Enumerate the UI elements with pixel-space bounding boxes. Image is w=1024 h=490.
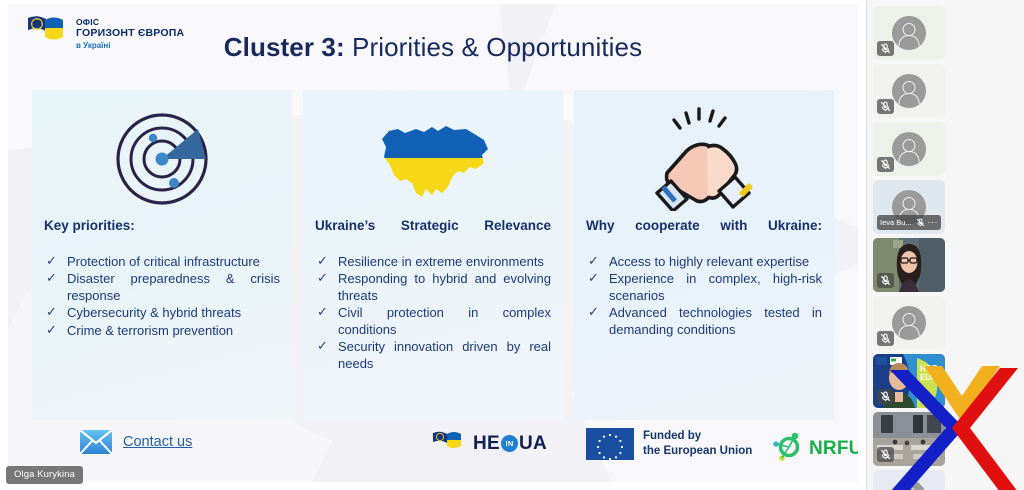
check-icon: ✓ [588,304,599,321]
list-item-text: Experience in complex, high-risk scenari… [609,271,822,303]
mic-off-icon [916,218,925,227]
participant-tile[interactable]: HOR EUR [873,354,945,408]
list-item: ✓Access to highly relevant expertise [586,254,822,271]
check-icon: ✓ [317,338,328,355]
list-item-text: Resilience in extreme environments [338,254,544,269]
avatar [892,480,926,490]
avatar [892,16,926,50]
mic-off-icon [877,99,894,114]
mic-off-icon [877,447,894,462]
participant-tile[interactable] [873,64,945,118]
avatar [892,306,926,340]
slide-footer: Contact us HEINUA [8,422,858,468]
list-item-text: Security innovation driven by real needs [338,339,551,371]
eu-flag-icon [586,428,634,460]
active-speaker-nameplate: Olga Kurykina [6,466,83,484]
participant-tile[interactable] [873,122,945,176]
mic-off-icon [877,41,894,56]
shared-screen-stage: ОФІС ГОРИЗОНТ ЄВРОПА в Україні Cluster 3… [0,0,866,490]
slide-title-rest: Priorities & Opportunities [345,32,643,62]
contact-us-block[interactable]: Contact us [80,430,192,454]
participant-filmstrip[interactable]: Ieva Bu... ··· [866,0,1024,490]
list-item-text: Civil protection in complex conditions [338,305,551,337]
participant-tile[interactable] [873,470,945,490]
svg-text:HOR: HOR [920,364,938,373]
list-item-text: Cybersecurity & hybrid threats [67,305,241,320]
heoua-in-badge: IN [501,435,518,452]
participant-tile[interactable] [873,238,945,292]
list-item-text: Advanced technologies tested in demandin… [609,305,822,337]
list-item: ✓Disaster preparedness & crisis response [44,271,280,304]
list-item: ✓Protection of critical infrastructure [44,254,280,271]
brand-line-1: ОФІС [76,17,184,27]
content-columns: Key priorities: ✓Protection of critical … [32,90,834,420]
heoua-flag-icon [432,430,466,457]
participant-menu-icon[interactable]: ··· [928,218,939,227]
column-1-list: ✓Protection of critical infrastructure ✓… [44,254,280,341]
envelope-icon [80,430,112,454]
meeting-screen: ОФІС ГОРИЗОНТ ЄВРОПА в Україні Cluster 3… [0,0,1024,490]
list-item-text: Responding to hybrid and evolving threat… [338,271,551,303]
list-item-text: Protection of critical infrastructure [67,254,260,269]
list-item: ✓Experience in complex, high-risk scenar… [586,271,822,304]
nrfu-mark-icon [770,431,804,466]
list-item: ✓Advanced technologies tested in demandi… [586,305,822,338]
column-2-list: ✓Resilience in extreme environments ✓Res… [315,254,551,374]
check-icon: ✓ [588,270,599,287]
list-item: ✓Security innovation driven by real need… [315,339,551,372]
contact-us-link[interactable]: Contact us [123,434,192,450]
mic-off-icon [877,389,894,404]
list-item: ✓Civil protection in complex conditions [315,305,551,338]
heoua-post: UA [519,433,547,455]
check-icon: ✓ [46,270,57,287]
svg-text:EUR: EUR [920,373,937,382]
participant-tile[interactable] [873,6,945,60]
list-item: ✓Crime & terrorism prevention [44,323,280,340]
column-3-list: ✓Access to highly relevant expertise ✓Ex… [586,254,822,340]
heoua-wordmark: HEINUA [473,433,547,455]
slide-title: Cluster 3: Priorities & Opportunities [8,32,858,63]
list-item-text: Access to highly relevant expertise [609,254,809,269]
avatar [892,74,926,108]
check-icon: ✓ [317,270,328,287]
list-item-text: Disaster preparedness & crisis response [67,271,280,303]
list-item: ✓Cybersecurity & hybrid threats [44,305,280,322]
list-item: ✓Responding to hybrid and evolving threa… [315,271,551,304]
funded-by-eu-logo: Funded by the European Union [586,428,752,460]
participant-namebar: Ieva Bu... ··· [877,215,941,230]
participant-tile[interactable] [873,296,945,350]
slide-title-bold: Cluster 3: [224,32,345,62]
eu-line-1: Funded by [643,429,752,444]
column-key-priorities: Key priorities: ✓Protection of critical … [32,90,292,420]
heo-in-ua-logo: HEINUA [432,430,547,457]
avatar [892,132,926,166]
participant-tiles: Ieva Bu... ··· [873,6,1019,490]
list-item: ✓Resilience in extreme environments [315,254,551,271]
eu-line-2: the European Union [643,444,752,459]
column-3-heading: Why cooperate with Ukraine: [586,218,822,252]
participant-name: Ieva Bu... [880,218,913,227]
column-2-heading: Ukraine’s Strategic Relevance [315,218,551,252]
participant-tile[interactable] [873,412,945,466]
handshake-icon [586,100,822,218]
mic-off-icon [877,273,894,288]
check-icon: ✓ [317,304,328,321]
check-icon: ✓ [46,322,57,339]
nrfu-wordmark: NRFU [809,438,858,460]
check-icon: ✓ [588,253,599,270]
eu-funding-text: Funded by the European Union [643,429,752,459]
presentation-slide: ОФІС ГОРИЗОНТ ЄВРОПА в Україні Cluster 3… [8,4,858,482]
ukraine-map-icon [315,100,551,218]
column-1-heading: Key priorities: [44,218,280,252]
column-why-cooperate: Why cooperate with Ukraine: ✓Access to h… [574,90,834,420]
mic-off-icon [877,331,894,346]
nrfu-logo: NRFU [770,431,858,466]
mic-off-icon [877,157,894,172]
heoua-pre: HE [473,433,500,455]
radar-icon [44,100,280,218]
check-icon: ✓ [317,253,328,270]
check-icon: ✓ [46,304,57,321]
column-strategic-relevance: Ukraine’s Strategic Relevance ✓Resilienc… [303,90,563,420]
check-icon: ✓ [46,253,57,270]
participant-tile[interactable]: Ieva Bu... ··· [873,180,945,234]
list-item-text: Crime & terrorism prevention [67,323,233,338]
